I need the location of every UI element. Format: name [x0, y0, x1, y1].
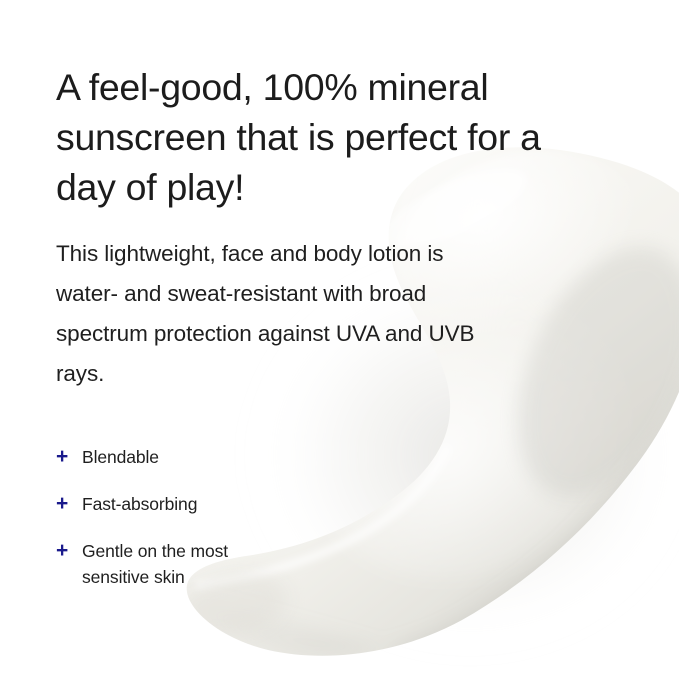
list-item: + Fast-absorbing	[56, 491, 356, 517]
list-item: + Gentle on the most sensitive skin	[56, 538, 356, 590]
product-description: This lightweight, face and body lotion i…	[56, 234, 476, 394]
product-feature-card: A feel-good, 100% mineral sunscreen that…	[0, 0, 679, 679]
list-item: + Blendable	[56, 444, 356, 470]
benefit-label: Blendable	[82, 444, 356, 470]
page-title: A feel-good, 100% mineral sunscreen that…	[56, 62, 586, 212]
benefits-list: + Blendable + Fast-absorbing + Gentle on…	[56, 444, 356, 611]
plus-icon: +	[56, 444, 82, 470]
plus-icon: +	[56, 491, 82, 517]
plus-icon: +	[56, 538, 82, 564]
content-column: A feel-good, 100% mineral sunscreen that…	[0, 0, 679, 679]
benefit-label: Gentle on the most sensitive skin	[82, 538, 356, 590]
benefit-label: Fast-absorbing	[82, 491, 356, 517]
